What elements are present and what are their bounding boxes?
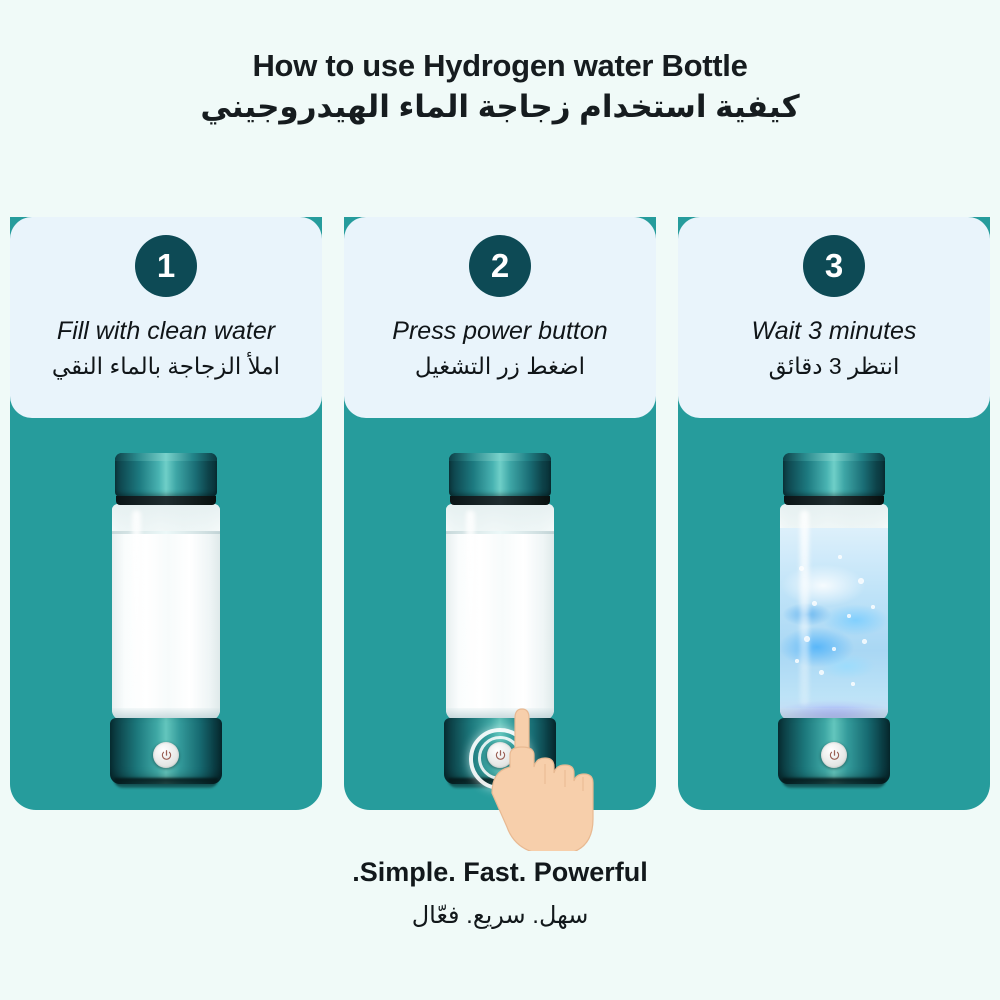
step-label-en-2: Press power button (344, 316, 656, 346)
power-icon (828, 749, 841, 762)
bottle-cap-ring (450, 496, 550, 505)
clear-water-fill (446, 532, 554, 720)
step-number-badge-3: 3 (803, 235, 865, 297)
step-card-3: 3 Wait 3 minutes انتظر 3 دقائق (678, 217, 990, 418)
step-card-2: 2 Press power button اضغط زر التشغيل (344, 217, 656, 418)
step-column-2: 2 Press power button اضغط زر التشغيل (344, 217, 656, 812)
power-icon (160, 749, 173, 762)
hydrogen-water-fill (780, 528, 888, 720)
tagline-en: Simple. Fast. Powerful. (0, 856, 1000, 888)
step-label-ar-2: اضغط زر التشغيل (344, 352, 656, 381)
tagline-ar: سهل. سريع. فعّال (0, 901, 1000, 931)
step-label-ar-3: انتظر 3 دقائق (678, 352, 990, 381)
power-button-glow-ring-inner (478, 736, 522, 780)
bottle-cap-ring (116, 496, 216, 505)
bottle-glass-body (780, 504, 888, 720)
page-title-ar: كيفية استخدام زجاجة الماء الهيدروجيني (0, 88, 1000, 125)
bottle-glass-body (446, 504, 554, 720)
bottle-cap-top (783, 453, 885, 461)
bottle-illustration-2 (438, 453, 562, 790)
bottle-cap-ring (784, 496, 884, 505)
step-number-badge-1: 1 (135, 235, 197, 297)
bottle-cap-top (449, 453, 551, 461)
bottle-illustration-3 (772, 453, 896, 790)
step-label-en-3: Wait 3 minutes (678, 316, 990, 346)
clear-water-fill (112, 532, 220, 720)
footer: Simple. Fast. Powerful. سهل. سريع. فعّال (0, 856, 1000, 931)
step-card-1: 1 Fill with clean water املأ الزجاجة بال… (10, 217, 322, 418)
power-button-1[interactable] (153, 742, 179, 768)
power-button-3[interactable] (821, 742, 847, 768)
bottle-illustration-1 (104, 453, 228, 790)
bottle-glass-body (112, 504, 220, 720)
step-number-badge-2: 2 (469, 235, 531, 297)
bottle-cap-top (115, 453, 217, 461)
page-title-en: How to use Hydrogen water Bottle (0, 48, 1000, 84)
infographic-page: How to use Hydrogen water Bottle كيفية ا… (0, 0, 1000, 1000)
header: How to use Hydrogen water Bottle كيفية ا… (0, 48, 1000, 125)
step-column-3: 3 Wait 3 minutes انتظر 3 دقائق (678, 217, 990, 812)
step-label-ar-1: املأ الزجاجة بالماء النقي (10, 352, 322, 381)
step-label-en-1: Fill with clean water (10, 316, 322, 346)
bubbles-overlay (780, 528, 888, 720)
step-column-1: 1 Fill with clean water املأ الزجاجة بال… (10, 217, 322, 812)
steps-container: 1 Fill with clean water املأ الزجاجة بال… (10, 217, 990, 812)
